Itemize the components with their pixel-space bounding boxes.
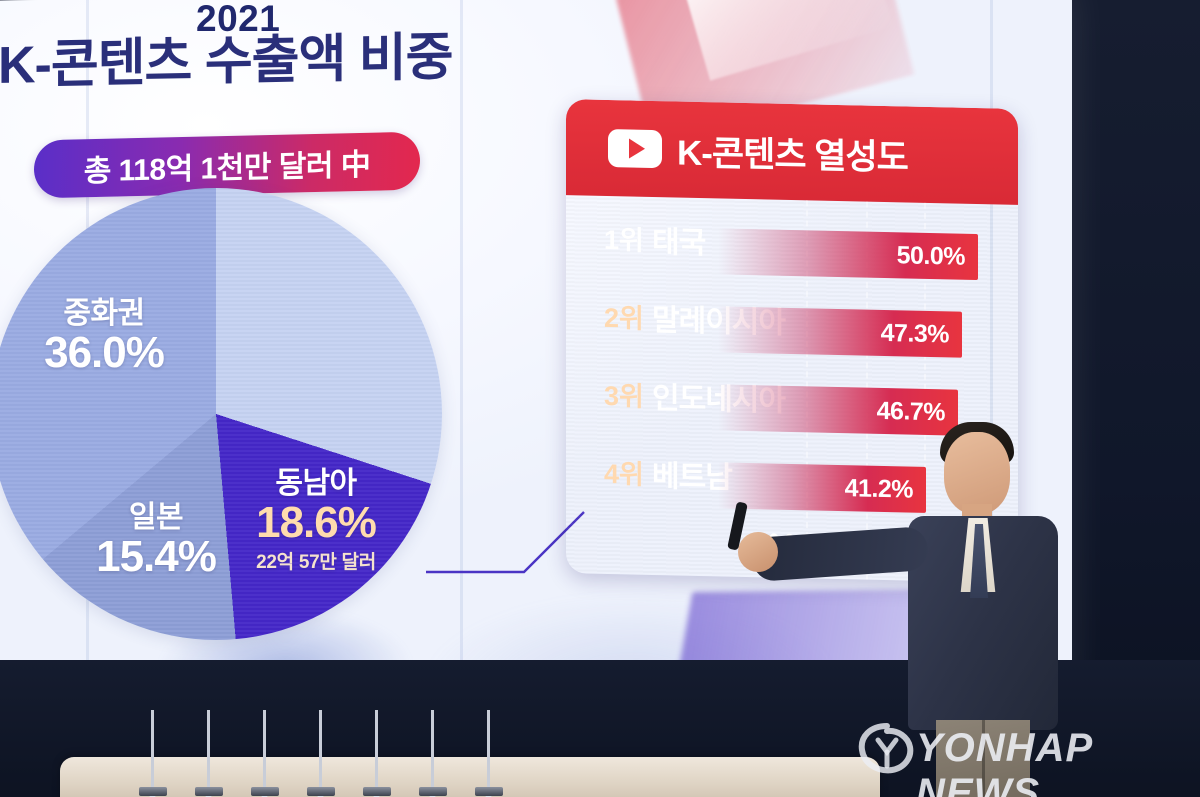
youtube-icon	[608, 129, 662, 168]
callout-connector-line	[420, 498, 590, 584]
pie-label-china: 중화권 36.0%	[4, 298, 204, 376]
rank-label-1: 1위	[604, 218, 644, 258]
bar-value-1: 50.0%	[897, 241, 965, 271]
country-label-1: 태국	[652, 217, 705, 262]
rank-label-2: 2위	[604, 296, 644, 336]
bar-value-2: 47.3%	[881, 318, 949, 348]
bar-1: 50.0%	[718, 228, 978, 280]
rank-label-4: 4위	[604, 452, 644, 492]
pie-label-southeast-asia: 동남아 18.6% 22억 57만 달러	[216, 468, 416, 574]
bar-4: 41.2%	[718, 462, 926, 513]
presenter-head	[944, 432, 1010, 514]
bar-2: 47.3%	[718, 306, 962, 357]
presenter-hand	[738, 532, 778, 572]
slide-title: K-콘텐츠 수출액 비중	[0, 29, 518, 94]
rank-row-2: 2위 말레이시아 47.3%	[566, 285, 1018, 361]
panel-header: K-콘텐츠 열성도	[566, 99, 1018, 205]
pie-label-sea-value: 18.6%	[216, 500, 416, 546]
watermark-text: YONHAP NEWS	[916, 726, 1200, 797]
pie-label-china-value: 36.0%	[4, 330, 204, 376]
screen-seam-2	[460, 0, 463, 701]
pie-chart: 중화권 36.0% 일본 15.4% 동남아 18.6% 22억 57만 달러	[0, 188, 460, 648]
pie-label-china-name: 중화권	[4, 298, 204, 330]
screenshot-root: 2021 K-콘텐츠 수출액 비중 총 118억 1천만 달러 中 중화권 36…	[0, 0, 1200, 797]
yonhap-logo-icon	[856, 720, 918, 778]
total-amount-label: 총 118억 1천만 달러 中	[84, 140, 371, 191]
flag-row: Jeju 제주특별자치도	[130, 688, 510, 796]
watermark: YONHAP NEWS	[856, 716, 1200, 786]
pie-label-sea-name: 동남아	[216, 468, 416, 500]
rank-row-1: 1위 태국 50.0%	[566, 207, 1018, 283]
rank-label-3: 3위	[604, 374, 644, 414]
pie-label-sea-amount: 22억 57만 달러	[216, 547, 416, 574]
panel-header-title: K-콘텐츠 열성도	[677, 124, 908, 180]
